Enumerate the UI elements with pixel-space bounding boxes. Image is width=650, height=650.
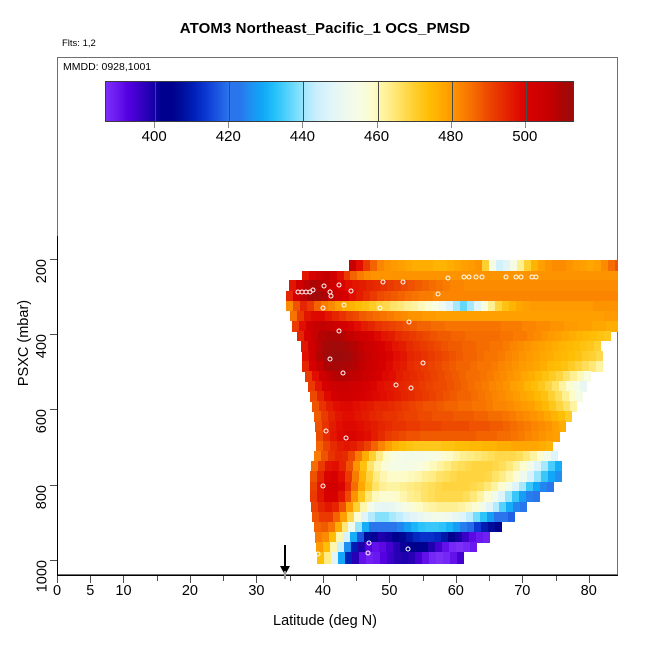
latitude-arrow-stub [284,571,286,579]
x-tick [589,576,590,583]
x-axis-title: Latitude (deg N) [0,613,650,629]
x-tick-label: 30 [248,583,264,599]
heatmap-cell [483,532,490,543]
heatmap-cell [613,321,618,332]
x-minor-tick [356,576,357,581]
heatmap-cell [559,421,566,431]
x-tick-label: 10 [115,583,131,599]
heatmap-cell [429,552,436,564]
heatmap-cell [394,552,401,564]
heatmap-cell [387,552,394,564]
sample-point-marker [328,293,333,298]
colorbar-divider [526,82,527,121]
sample-point-marker [320,305,325,310]
sample-point-marker [503,275,508,280]
x-tick [456,576,457,583]
heatmap-cell [415,552,422,564]
sample-point-marker [467,275,472,280]
colorbar-divider [452,82,453,121]
sample-point-marker [340,371,345,376]
x-axis-line [57,575,618,576]
x-tick-label: 40 [315,583,331,599]
heatmap-cell [596,361,603,371]
colorbar-tick-label: 500 [512,128,537,145]
x-minor-tick [290,576,291,581]
sample-point-marker [480,275,485,280]
y-axis-line [57,236,58,576]
sample-point-marker [407,320,412,325]
y-tick [50,259,57,260]
colorbar-tick-label: 460 [364,128,389,145]
x-tick-label: 70 [514,583,530,599]
x-tick [190,576,191,583]
x-minor-tick [223,576,224,581]
sample-point-marker [533,275,538,280]
page-title: ATOM3 Northeast_Pacific_1 OCS_PMSD [0,20,650,37]
sample-point-marker [342,302,347,307]
y-tick [50,560,57,561]
x-tick [522,576,523,583]
heatmap-cell [338,552,345,564]
sample-point-marker [445,276,450,281]
y-axis-title: PSXC (mbar) [4,265,24,425]
x-tick [90,576,91,583]
heatmap-cell [604,331,611,341]
heatmap-canvas [57,236,618,575]
heatmap-cell [553,431,560,442]
plot-root: ATOM3 Northeast_Pacific_1 OCS_PMSD Flts:… [0,0,650,650]
sample-point-marker [288,341,293,346]
colorbar-divider [303,82,304,121]
colorbar-tick-label: 480 [438,128,463,145]
sample-point-marker [435,292,440,297]
heatmap-cell [324,552,331,564]
y-tick [50,485,57,486]
colorbar-divider [378,82,379,121]
sample-point-marker [327,357,332,362]
sample-point-marker [420,361,425,366]
x-tick [323,576,324,583]
sample-point-marker [513,275,518,280]
heatmap-cell [495,522,502,533]
colorbar-segment [571,82,574,121]
heatmap-cell [422,552,429,564]
x-tick-label: 80 [581,583,597,599]
colorbar-tick-label: 440 [290,128,315,145]
sample-point-marker [408,386,413,391]
x-tick-label: 0 [53,583,61,599]
heatmap-cell [555,471,562,482]
heatmap-cell [401,552,408,564]
heatmap-cell [508,512,515,522]
sample-point-marker [405,547,410,552]
sample-point-marker [400,279,405,284]
heatmap-cell [520,502,527,513]
y-tick [50,334,57,335]
x-tick [256,576,257,583]
y-tick [50,409,57,410]
x-minor-tick [556,576,557,581]
sample-point-marker [349,288,354,293]
sample-point-marker [378,305,383,310]
x-tick-label: 60 [448,583,464,599]
sample-point-marker [344,435,349,440]
heatmap-cell [457,552,464,564]
sample-point-marker [337,328,342,333]
x-minor-tick [157,576,158,581]
y-tick-label: 800 [0,455,46,515]
sample-point-marker [315,552,320,557]
x-minor-tick [489,576,490,581]
sample-point-marker [337,282,342,287]
x-tick-label: 5 [86,583,94,599]
sample-point-marker [324,428,329,433]
colorbar-tick-label: 400 [142,128,167,145]
sample-point-marker [367,540,372,545]
heatmap-cell [540,482,547,492]
colorbar-divider [155,82,156,121]
x-tick [57,576,58,583]
x-tick-label: 20 [182,583,198,599]
heatmap-cell [345,552,352,564]
flights-label: Flts: 1,2 [62,38,96,49]
heatmap-cell [450,552,457,564]
sample-point-marker [380,279,385,284]
heatmap-row [317,552,464,564]
x-tick-label: 50 [381,583,397,599]
sample-point-marker [393,382,398,387]
heatmap-cell [408,552,415,564]
sample-point-marker [322,284,327,289]
sample-point-marker [366,551,371,556]
x-tick [123,576,124,583]
sample-point-marker [473,275,478,280]
y-tick-label: 1000 [0,530,46,590]
heatmap-cell [352,552,359,564]
x-tick [389,576,390,583]
colorbar: 400420440460480500 [105,81,574,122]
x-minor-tick [423,576,424,581]
heatmap-cell [331,552,338,564]
colorbar-tick-label: 420 [216,128,241,145]
heatmap-cell [373,552,380,564]
heatmap-cell [470,542,477,552]
heatmap-cell [547,482,554,492]
colorbar-gradient [105,81,574,122]
heatmap-cell [380,552,387,564]
heatmap-cell [436,552,443,564]
sample-point-marker [307,289,312,294]
heatmap-cell [533,491,540,502]
sample-point-marker [320,483,325,488]
colorbar-divider [229,82,230,121]
sample-point-marker [518,275,523,280]
heatmap-cell [463,542,470,552]
heatmap-cell [443,552,450,564]
